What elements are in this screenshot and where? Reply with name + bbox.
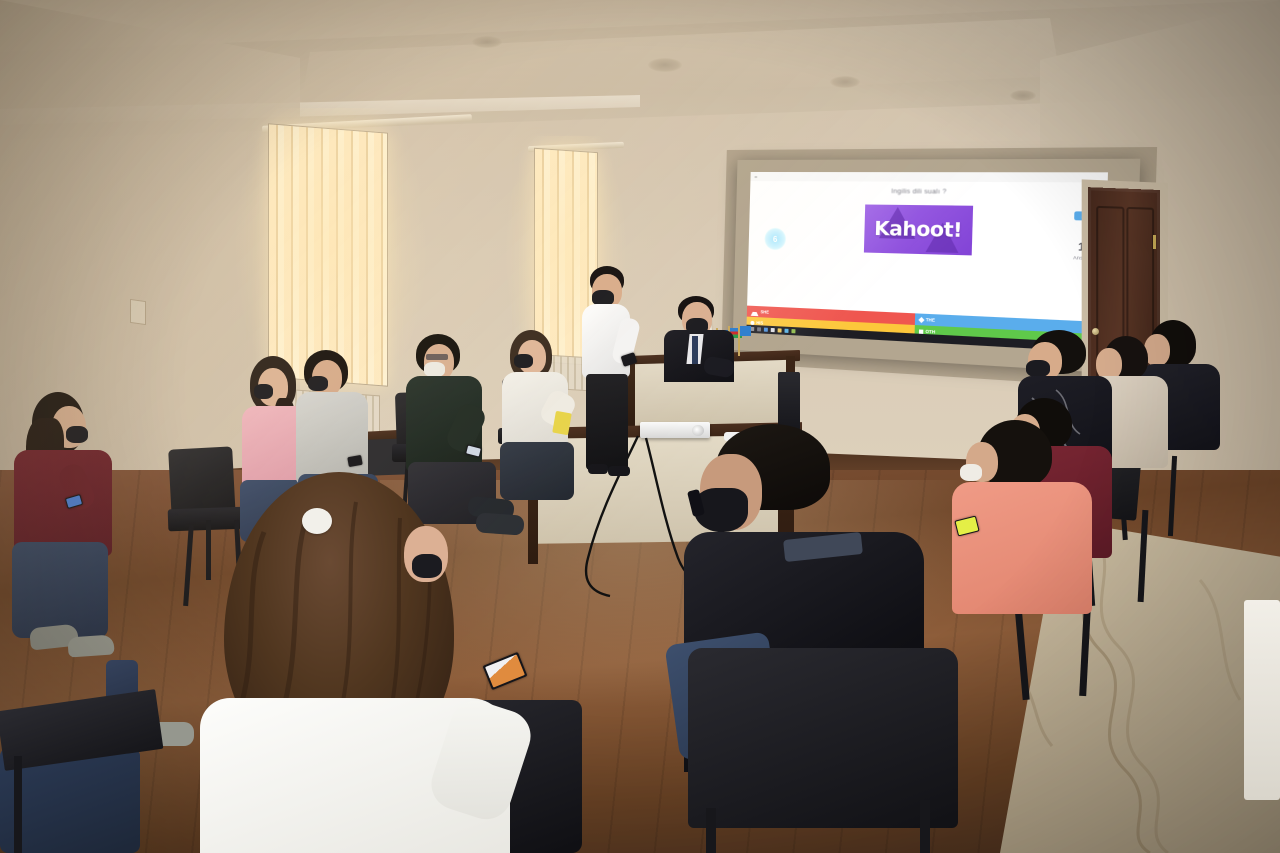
- ceiling-light-icon: [648, 58, 682, 72]
- face-mask: [254, 384, 273, 399]
- explorer-icon[interactable]: [764, 328, 768, 332]
- door-hinge-icon: [1153, 235, 1156, 249]
- chair-leg: [206, 520, 211, 580]
- folder-icon[interactable]: [778, 328, 782, 332]
- chair-leg: [14, 756, 22, 853]
- torso: [952, 482, 1092, 614]
- wall-panel: [130, 299, 146, 325]
- ceiling-light-icon: [830, 76, 860, 88]
- face-mask: [960, 464, 982, 481]
- foreground-chair[interactable]: [688, 648, 958, 828]
- chrome-dot-icon: [754, 176, 756, 179]
- torso: [14, 450, 112, 556]
- app-icon[interactable]: [784, 329, 788, 333]
- face-mask: [412, 554, 442, 578]
- classroom-photo-scene: Ingilis dili sualı ? 6 Kahoot! Skip 12 A…: [0, 0, 1280, 853]
- chair-leg: [706, 808, 716, 853]
- trousers: [586, 374, 628, 470]
- chair-leg: [920, 800, 930, 853]
- face-mask: [1026, 360, 1050, 377]
- kahoot-stage: Ingilis dili sualı ? 6 Kahoot! Skip 12 A…: [747, 181, 1108, 322]
- shoe: [608, 466, 630, 476]
- phone-screen: [466, 446, 481, 457]
- window-blinds: [269, 124, 387, 385]
- face-mask: [66, 426, 88, 443]
- browser-icon[interactable]: [771, 328, 775, 332]
- torso: [296, 392, 368, 484]
- glasses-icon: [426, 354, 448, 360]
- kahoot-logo: Kahoot!: [864, 204, 973, 255]
- door-knob[interactable]: [1092, 328, 1099, 335]
- answer-label-red: SHE: [760, 309, 769, 314]
- ceiling-light-icon: [472, 36, 502, 48]
- shoe: [67, 634, 114, 657]
- necktie: [692, 336, 698, 364]
- legs-jeans: [12, 542, 108, 638]
- white-board-panel: [1244, 600, 1280, 800]
- app-icon[interactable]: [791, 329, 795, 333]
- face-mask: [514, 354, 533, 368]
- search-icon[interactable]: [757, 327, 761, 331]
- answer-label-blue: THE: [926, 317, 935, 323]
- triangle-shape-icon: [751, 307, 759, 315]
- window-left: [268, 123, 388, 386]
- question-timer: 6: [764, 228, 786, 251]
- diamond-shape-icon: [918, 316, 924, 322]
- shoe: [475, 512, 524, 535]
- kahoot-app-screen: Ingilis dili sualı ? 6 Kahoot! Skip 12 A…: [746, 172, 1108, 352]
- face-mask: [424, 362, 445, 377]
- legs: [500, 442, 574, 500]
- shoe: [588, 464, 608, 474]
- face-mask: [308, 376, 328, 391]
- kahoot-logo-text: Kahoot!: [874, 217, 962, 242]
- hair-clip: [302, 508, 332, 534]
- blue-flag: [740, 326, 751, 336]
- ceiling-light-icon: [1010, 90, 1036, 101]
- speaker-box: [778, 372, 800, 430]
- square-shape-icon: [919, 329, 923, 333]
- question-text: Ingilis dili sualı ?: [750, 187, 1107, 197]
